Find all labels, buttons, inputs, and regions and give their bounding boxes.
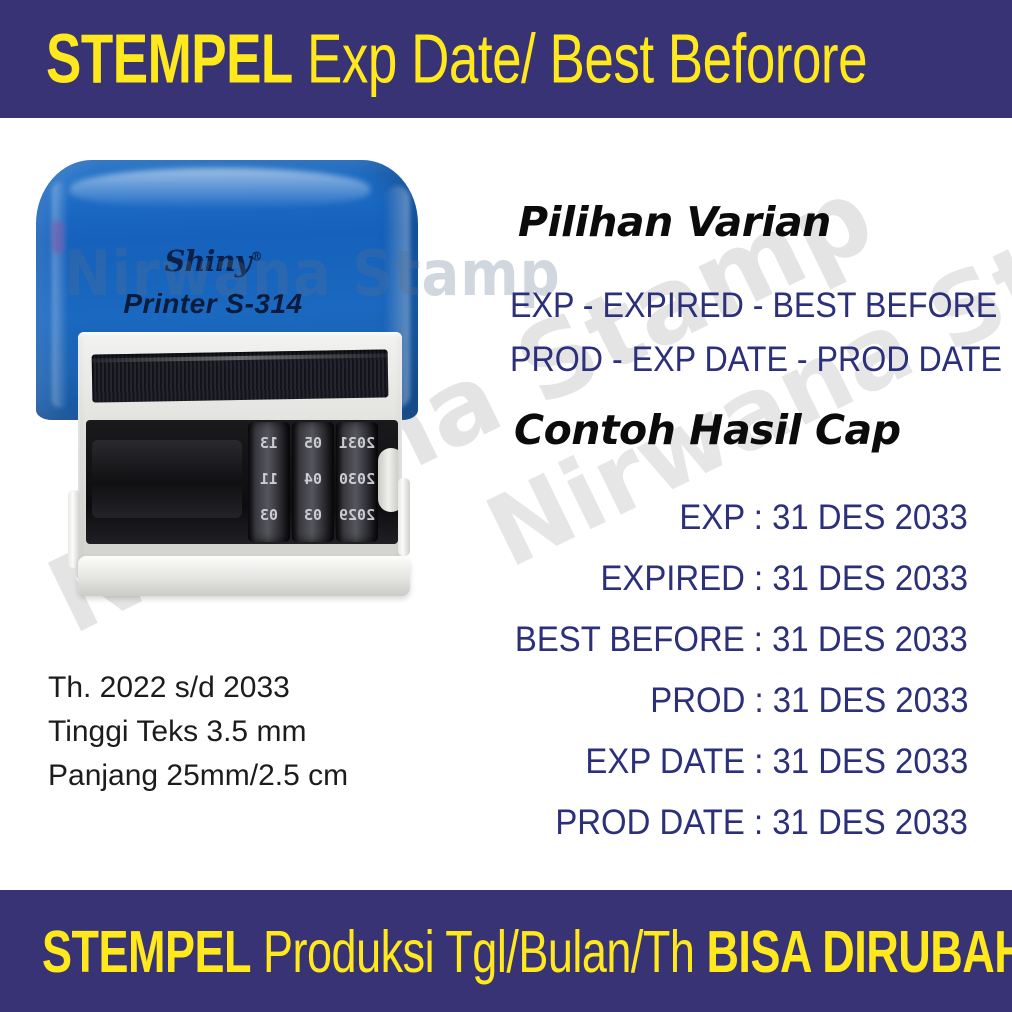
- spec-line-text-height: Tinggi Teks 3.5 mm: [48, 710, 348, 754]
- wheel-day-value-mid: 11: [248, 470, 290, 488]
- stamp-base-plate: [78, 556, 410, 596]
- wheel-year-value-mid: 2030: [336, 470, 378, 488]
- text-plate-roller: [92, 440, 242, 518]
- footer-strong-text-2: BISA DIRUBAH: [706, 917, 1012, 984]
- footer-light-text: Produksi Tgl/Bulan/Th: [251, 917, 706, 984]
- spec-line-year-range: Th. 2022 s/d 2033: [48, 666, 348, 710]
- sample-row-prod-date: PROD DATE : 31 DES 2033: [555, 803, 968, 843]
- registered-trademark-icon: ®: [250, 249, 261, 263]
- footer-strong-text: STEMPEL: [42, 917, 251, 984]
- stamp-ink-band: [92, 349, 389, 402]
- variants-heading: Pilihan Varian: [518, 198, 831, 246]
- wheel-month-value-mid: 04: [292, 470, 334, 488]
- sample-row-exp: EXP : 31 DES 2033: [680, 498, 968, 538]
- wheel-day-value-top: 13: [248, 434, 290, 452]
- date-wheel-month[interactable]: 05 04 03: [292, 422, 334, 542]
- shiny-brand-logo: Shiny®: [22, 244, 404, 278]
- wheel-day-value-bottom: 03: [248, 506, 290, 524]
- stamp-frame-leg-left: [68, 490, 80, 568]
- date-wheel-year[interactable]: 2031 2030 2029: [336, 422, 378, 542]
- variant-options-row-2: PROD - EXP DATE - PROD DATE: [510, 340, 970, 380]
- product-advertisement-image: STEMPEL Exp Date/ Best Beforore Nirwana …: [0, 0, 1012, 1012]
- stamp-frame-leg-right: [398, 478, 410, 556]
- info-panel: Pilihan Varian EXP - EXPIRED - BEST BEFO…: [490, 118, 990, 890]
- header-banner: STEMPEL Exp Date/ Best Beforore: [0, 0, 1012, 118]
- product-specifications: Th. 2022 s/d 2033 Tinggi Teks 3.5 mm Pan…: [48, 666, 348, 798]
- header-strong-text: STEMPEL: [46, 20, 293, 98]
- footer-banner: STEMPEL Produksi Tgl/Bulan/Th BISA DIRUB…: [0, 890, 1012, 1012]
- spec-line-length: Panjang 25mm/2.5 cm: [48, 754, 348, 798]
- wheel-month-value-top: 05: [292, 434, 334, 452]
- sample-row-best-before: BEST BEFORE : 31 DES 2033: [515, 620, 968, 660]
- ink-band-highlight: [92, 353, 388, 362]
- header-light-text: Exp Date/ Best Beforore: [293, 20, 867, 98]
- sample-row-expired: EXPIRED : 31 DES 2033: [600, 559, 968, 599]
- main-content-area: Nirwana Stamp Nirwana Stamp Shiny® Print…: [0, 118, 1012, 890]
- sample-row-exp-date: EXP DATE : 31 DES 2033: [585, 742, 968, 782]
- cap-gloss-highlight: [70, 168, 370, 208]
- date-wheel-day[interactable]: 13 11 03: [248, 422, 290, 542]
- wheel-year-value-bottom: 2029: [336, 506, 378, 524]
- footer-banner-text: STEMPEL Produksi Tgl/Bulan/Th BISA DIRUB…: [0, 921, 1012, 980]
- wheel-year-value-top: 2031: [336, 434, 378, 452]
- date-wheel-adjust-knob[interactable]: [378, 448, 398, 512]
- product-model-label: Printer S-314: [22, 288, 404, 320]
- header-banner-text: STEMPEL Exp Date/ Best Beforore: [0, 24, 867, 94]
- samples-heading: Contoh Hasil Cap: [514, 406, 901, 454]
- wheel-month-value-bottom: 03: [292, 506, 334, 524]
- brand-name-text: Shiny: [165, 244, 251, 278]
- stamp-product-photo: Shiny® Printer S-314 13 11 03 05 04 03: [22, 160, 462, 640]
- date-wheel-housing: 13 11 03 05 04 03 2031 2030 2029: [86, 420, 398, 544]
- sample-row-prod: PROD : 31 DES 2033: [650, 681, 968, 721]
- variant-options-row-1: EXP - EXPIRED - BEST BEFORE: [510, 286, 970, 326]
